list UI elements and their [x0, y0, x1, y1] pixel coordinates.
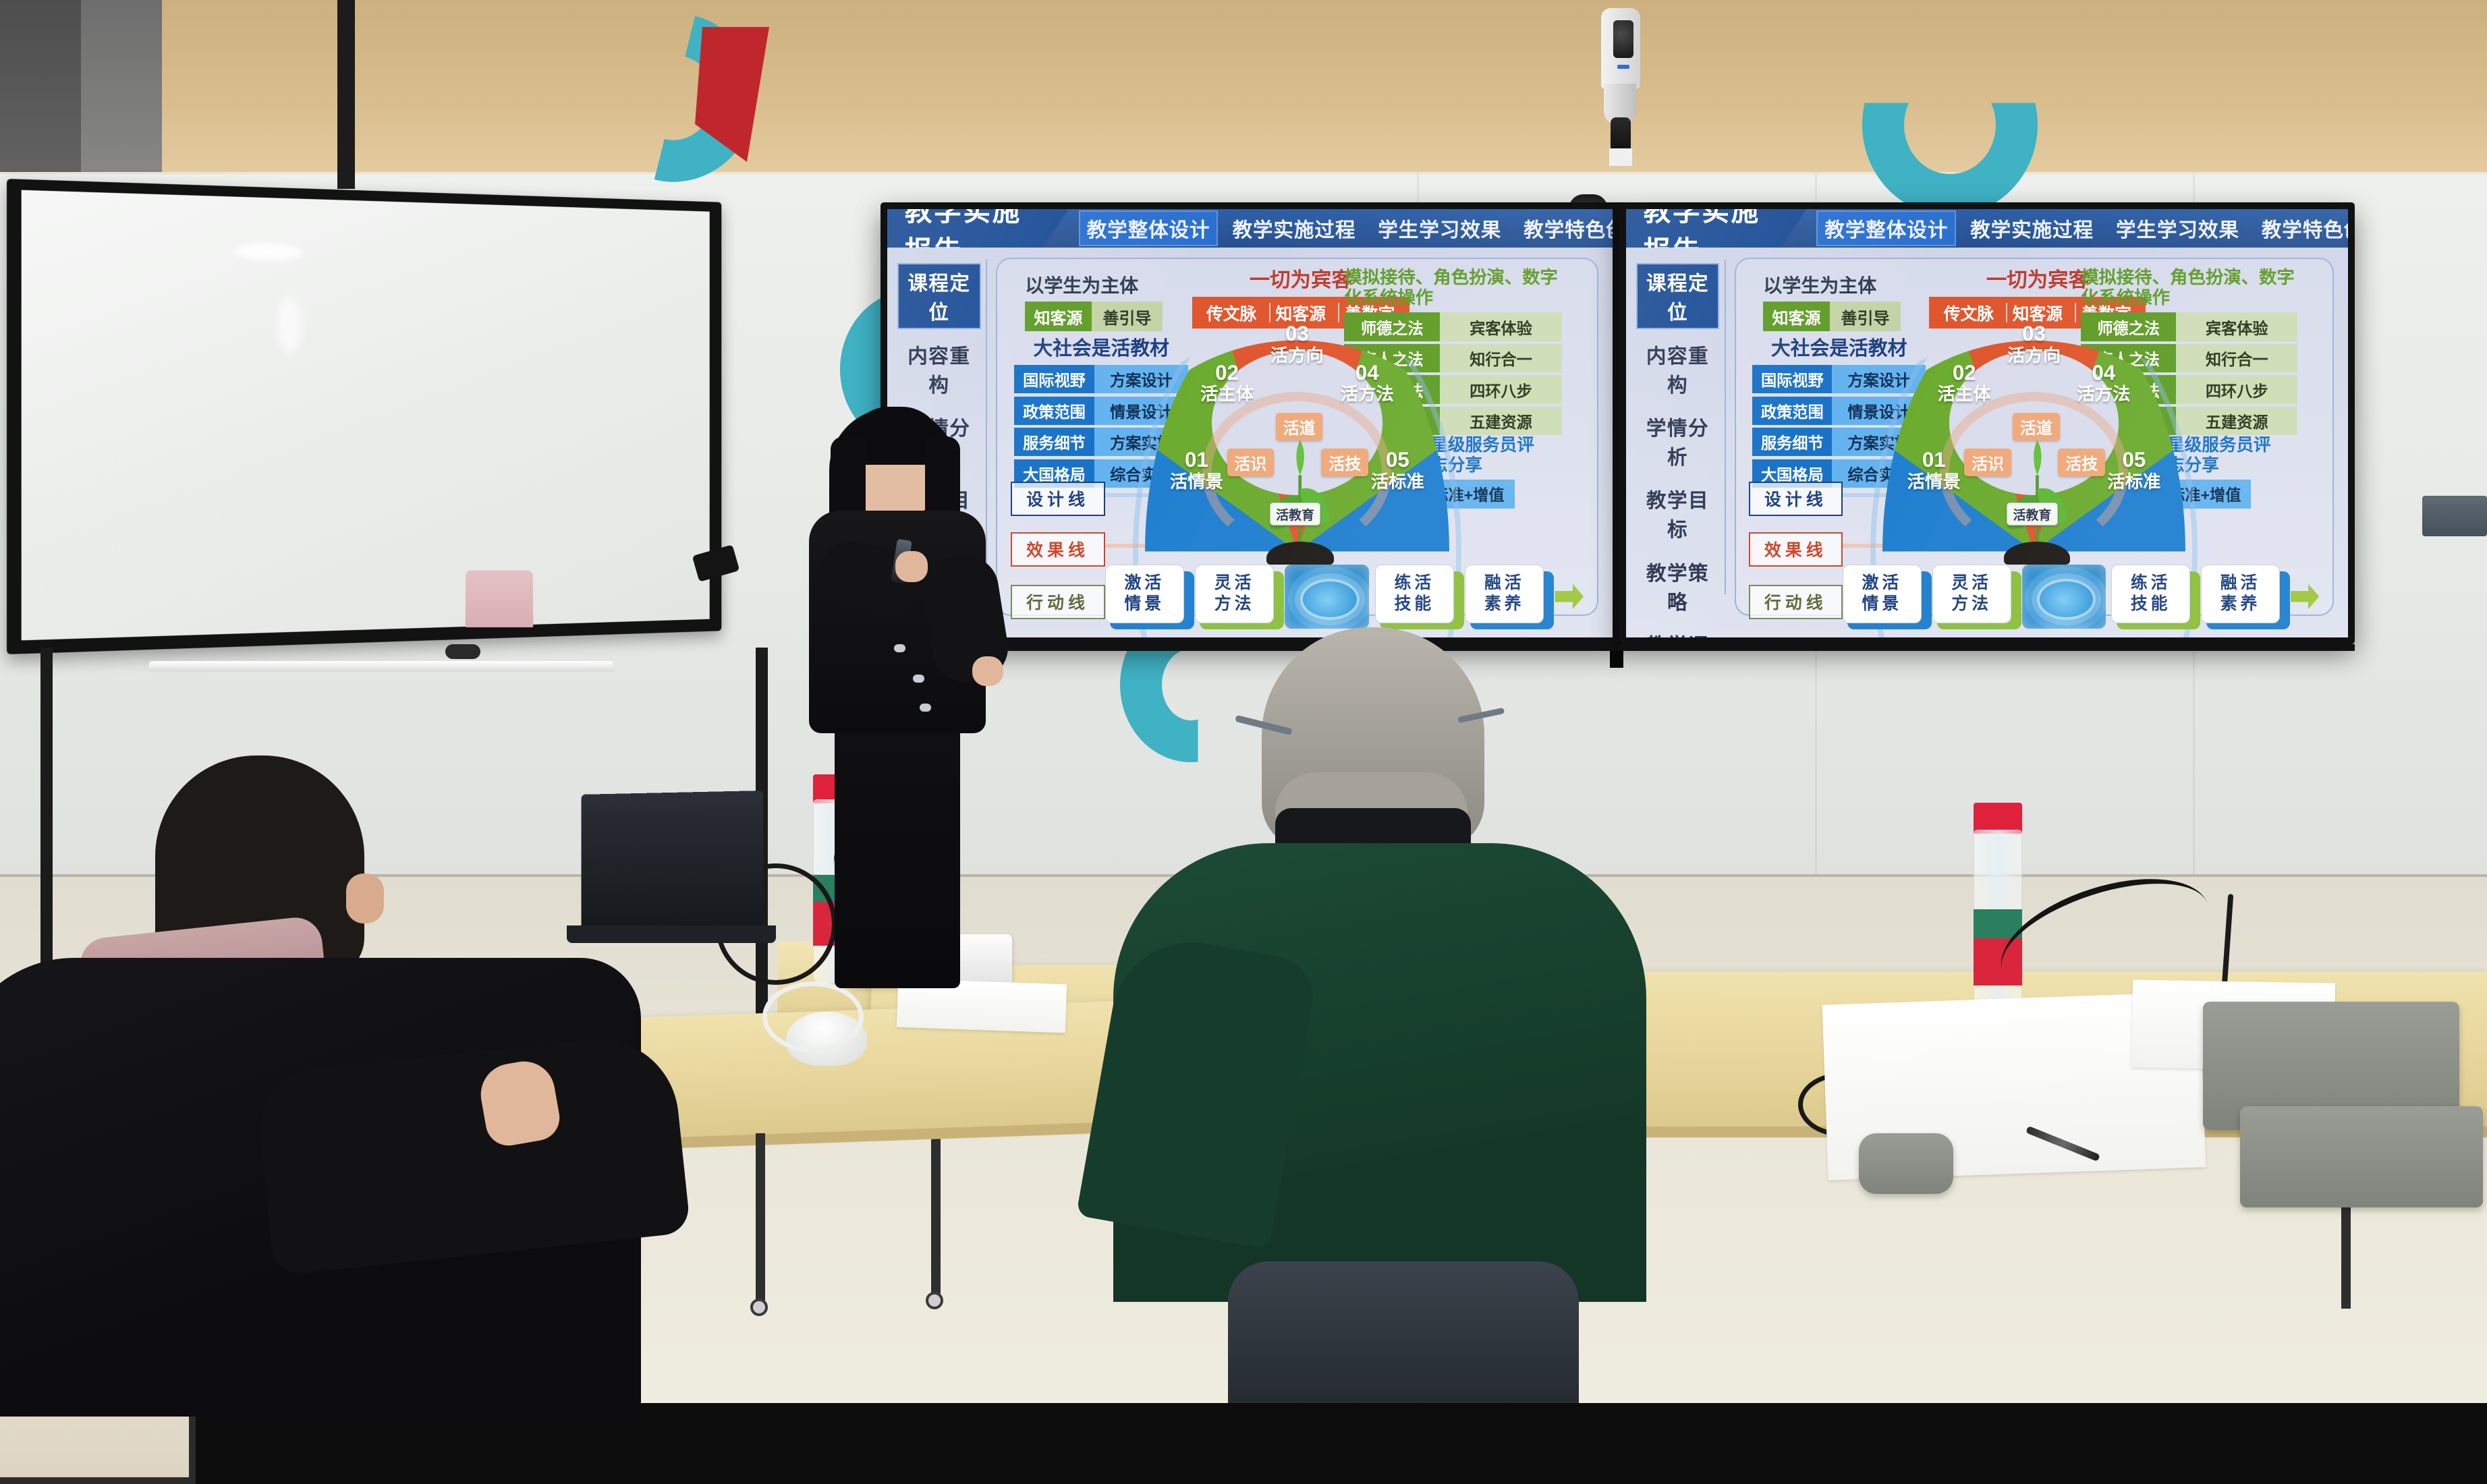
sidebar-item-content-restructure[interactable]: 内容重构	[897, 336, 981, 402]
jacket-button	[920, 704, 931, 712]
tab-feature-innovation[interactable]: 教学特色创新	[2254, 210, 2348, 247]
step-line1: 融活	[2220, 573, 2261, 594]
action-steps-row: 激活情景 灵活方法 练活技能 融活素养	[1843, 559, 2319, 633]
segment-01: 01 活情景	[1901, 449, 1967, 491]
segment-02: 02 活主体	[1931, 362, 1998, 404]
sidebar-item-teaching-evaluation[interactable]: 教学评价	[1636, 625, 1719, 637]
row-value: 五建资源	[1440, 407, 1562, 435]
laptop[interactable]	[466, 571, 534, 627]
core-tag-shi: 活识	[1227, 449, 1275, 476]
whiteboard	[7, 179, 721, 654]
action-steps-row: 激活情景 灵活方法 练活技能 融活素养	[1105, 559, 1584, 633]
step-line1: 激活	[1124, 573, 1165, 594]
jacket-button	[894, 644, 905, 652]
presenter-hand-left	[895, 551, 928, 582]
action-step-integrate-literacy: 融活素养	[2201, 565, 2285, 628]
gray-bag-lower[interactable]	[2240, 1106, 2483, 1207]
callout-student-key: 知客源	[1025, 302, 1091, 332]
step-line2: 技能	[1395, 594, 1435, 615]
action-step-flexible-method: 灵活方法	[1195, 565, 1279, 628]
row-key: 政策范围	[1014, 397, 1094, 425]
presenter-hand-right	[972, 656, 1003, 686]
step-line1: 练活	[2131, 573, 2171, 594]
slide-tabs: 教学整体设计 教学实施过程 学生学习效果 教学特色创新 反思改进措施	[1079, 210, 1613, 247]
row-key: 国际视野	[1014, 365, 1094, 393]
classroom-scene: 教学实施报告 教学整体设计 教学实施过程 学生学习效果 教学特色创新 反思改进措…	[0, 0, 2487, 1399]
row-value: 四环八步	[2176, 375, 2297, 403]
jacket-button	[913, 675, 924, 683]
segment-number: 02	[1194, 362, 1260, 384]
tab-overall-design[interactable]: 教学整体设计	[1079, 210, 1219, 247]
segment-label: 活情景	[1901, 472, 1967, 492]
label-effect-line: 效果线	[1749, 532, 1843, 567]
table-caster	[750, 1298, 768, 1316]
segment-03: 03 活方向	[2001, 322, 2067, 365]
teal-arc-decal	[1862, 34, 2038, 216]
forward-arrow-icon	[2291, 584, 2319, 609]
table-leg	[756, 1133, 765, 1309]
step-line2: 素养	[2220, 594, 2261, 615]
slide-title: 教学实施报告	[1626, 209, 1807, 248]
row-value: 知行合一	[1440, 344, 1562, 372]
segment-number: 01	[1901, 449, 1967, 472]
segment-01: 01 活情景	[1163, 449, 1230, 491]
small-gray-pouch[interactable]	[1859, 1133, 1953, 1194]
seated-viewer-center	[1107, 627, 1646, 1399]
ptz-camera	[1594, 8, 1648, 163]
segment-03: 03 活方向	[1264, 322, 1331, 365]
row-key: 国际视野	[1752, 365, 1832, 393]
tab-implementation-process[interactable]: 教学实施过程	[1962, 210, 2102, 247]
whiteboard-glare	[234, 242, 302, 260]
core-tag-education: 活教育	[2007, 503, 2058, 525]
slide-tabs: 教学整体设计 教学实施过程 学生学习效果 教学特色创新 反思改进措施	[1816, 210, 2348, 247]
step-line1: 融活	[1484, 573, 1525, 594]
label-design-line: 设计线	[1011, 482, 1105, 516]
segment-05: 05 活标准	[2100, 449, 2167, 491]
step-line2: 方法	[1951, 594, 1992, 615]
segment-label: 活方法	[1334, 384, 1401, 404]
step-line2: 素养	[1484, 594, 1525, 615]
action-step-integrate-literacy: 融活素养	[1465, 565, 1549, 628]
segment-label: 活情景	[1163, 472, 1230, 492]
row-key: 服务细节	[1752, 428, 1832, 456]
step-line2: 情景	[1124, 594, 1165, 615]
label-action-line: 行动线	[1011, 585, 1105, 619]
whiteboard-tray	[146, 661, 615, 672]
presenter	[793, 401, 1002, 988]
segment-02: 02 活主体	[1194, 362, 1260, 404]
segment-number: 01	[1163, 449, 1230, 472]
tab-implementation-process[interactable]: 教学实施过程	[1225, 210, 1364, 247]
mic-cable-loop	[762, 981, 864, 1052]
whiteboard-glare	[277, 295, 302, 354]
action-step-practice-skill: 练活技能	[1375, 565, 1459, 628]
display-right-screen: 教学实施报告 教学整体设计 教学实施过程 学生学习效果 教学特色创新 反思改进措…	[1626, 209, 2348, 637]
segment-label: 活标准	[1364, 472, 1431, 492]
step-line1: 练活	[1395, 573, 1435, 594]
label-design-line: 设计线	[1749, 482, 1843, 516]
slide-title: 教学实施报告	[887, 209, 1069, 248]
sidebar-item-teaching-strategy[interactable]: 教学策略	[1636, 553, 1719, 619]
row-value: 五建资源	[2176, 407, 2297, 435]
segment-label: 活标准	[2100, 472, 2167, 492]
sidebar-divider	[1725, 259, 1726, 594]
segment-label: 活方向	[1264, 346, 1331, 366]
action-step-activate-scenario: 激活情景	[1105, 565, 1190, 628]
red-ribbon-decal	[695, 27, 769, 162]
chair[interactable]	[1228, 1261, 1579, 1403]
slide-right: 教学实施报告 教学整体设计 教学实施过程 学生学习效果 教学特色创新 反思改进措…	[1626, 209, 2348, 637]
slide-body: 课程定位 内容重构 学情分析 教学目标 教学策略 教学评价 一切为宾客 传文脉 …	[1626, 248, 2348, 637]
label-effect-line: 效果线	[1011, 532, 1105, 567]
action-step-practice-skill: 练活技能	[2111, 565, 2195, 628]
display-bezel	[1619, 644, 2355, 651]
action-step-flexible-method: 灵活方法	[1932, 565, 2016, 628]
wall-control-panel[interactable]	[2422, 496, 2487, 536]
segment-label: 活主体	[1194, 384, 1260, 404]
camera-lens-icon	[1613, 20, 1633, 58]
step-line1: 灵活	[1214, 573, 1255, 594]
laptop-base	[567, 925, 776, 943]
segment-number: 05	[1364, 449, 1431, 472]
semicircle-diagram: 01 活情景 02 活主体 03 活方向 04	[1145, 294, 1450, 551]
step-line2: 方法	[1214, 594, 1255, 615]
segment-number: 03	[2001, 322, 2067, 345]
laptop-screen[interactable]	[582, 791, 763, 933]
step-line1: 激活	[1862, 573, 1903, 594]
row-value: 知行合一	[2176, 344, 2297, 372]
step-line2: 技能	[2131, 594, 2171, 615]
camera-led	[1617, 65, 1629, 69]
core-tag-ji: 活技	[1321, 449, 1368, 476]
row-value: 宾客体验	[1440, 312, 1562, 341]
row-value: 四环八步	[1440, 375, 1562, 403]
mouse[interactable]	[445, 644, 480, 659]
upper-wall	[0, 0, 2487, 182]
sidebar-item-learner-analysis[interactable]: 学情分析	[1636, 408, 1719, 474]
label-action-line: 行动线	[1749, 585, 1843, 619]
tab-learning-outcomes[interactable]: 学生学习效果	[1370, 210, 1509, 247]
row-key: 政策范围	[1752, 397, 1832, 425]
slide-side-nav: 课程定位 内容重构 学情分析 教学目标 教学策略 教学评价	[1636, 263, 1719, 583]
table-caster	[926, 1292, 943, 1309]
segment-04: 04 活方法	[2070, 362, 2137, 404]
segment-number: 04	[2070, 362, 2137, 384]
tab-learning-outcomes[interactable]: 学生学习效果	[2108, 210, 2247, 247]
core-tag-dao: 活道	[1276, 413, 1323, 440]
water-bottle-right[interactable]	[1974, 803, 2022, 1025]
segment-number: 05	[2100, 449, 2167, 472]
callout-student-key: 知客源	[1763, 302, 1829, 332]
tab-overall-design[interactable]: 教学整体设计	[1816, 210, 1956, 247]
segment-label: 活主体	[1931, 384, 1998, 404]
segment-number: 02	[1931, 362, 1998, 384]
camera-body	[1601, 8, 1640, 89]
viewer-left-ear	[346, 874, 384, 923]
water-ripple-icon	[1285, 565, 1369, 628]
sidebar-item-course-positioning[interactable]: 课程定位	[897, 263, 981, 329]
display-right[interactable]: 教学实施报告 教学整体设计 教学实施过程 学生学习效果 教学特色创新 反思改进措…	[1619, 202, 2355, 644]
core-tag-shi: 活识	[1964, 449, 2011, 476]
segment-label: 活方向	[2001, 346, 2067, 366]
water-ripple-icon	[2022, 565, 2106, 628]
tab-feature-innovation[interactable]: 教学特色创新	[1515, 210, 1613, 247]
presenter-legs	[835, 718, 960, 988]
sidebar-item-course-positioning[interactable]: 课程定位	[1636, 263, 1719, 329]
sidebar-item-teaching-goals[interactable]: 教学目标	[1636, 480, 1719, 546]
core-tag-education: 活教育	[1270, 503, 1321, 525]
camera-mount-plate	[1609, 148, 1632, 166]
step-line1: 灵活	[1951, 573, 1992, 594]
slide-header: 教学实施报告 教学整体设计 教学实施过程 学生学习效果 教学特色创新 反思改进措…	[887, 209, 1613, 248]
core-tag-ji: 活技	[2058, 449, 2105, 476]
segment-05: 05 活标准	[1364, 449, 1431, 491]
step-line2: 情景	[1862, 594, 1903, 615]
row-value: 宾客体验	[2176, 312, 2297, 341]
segment-04: 04 活方法	[1334, 362, 1401, 404]
slide-header: 教学实施报告 教学整体设计 教学实施过程 学生学习效果 教学特色创新 反思改进措…	[1626, 209, 2348, 248]
wall-post	[337, 0, 355, 189]
forward-arrow-icon	[1555, 584, 1584, 609]
row-key: 服务细节	[1014, 428, 1094, 456]
sidebar-item-content-restructure[interactable]: 内容重构	[1636, 336, 1719, 402]
segment-number: 03	[1264, 322, 1331, 345]
whiteboard-surface	[22, 190, 710, 641]
segment-label: 活方法	[2070, 384, 2137, 404]
semicircle-diagram: 01 活情景 02 活主体 03 活方向 04	[1882, 294, 2185, 551]
action-step-activate-scenario: 激活情景	[1843, 565, 1926, 628]
segment-number: 04	[1334, 362, 1401, 384]
core-tag-dao: 活道	[2013, 413, 2060, 440]
